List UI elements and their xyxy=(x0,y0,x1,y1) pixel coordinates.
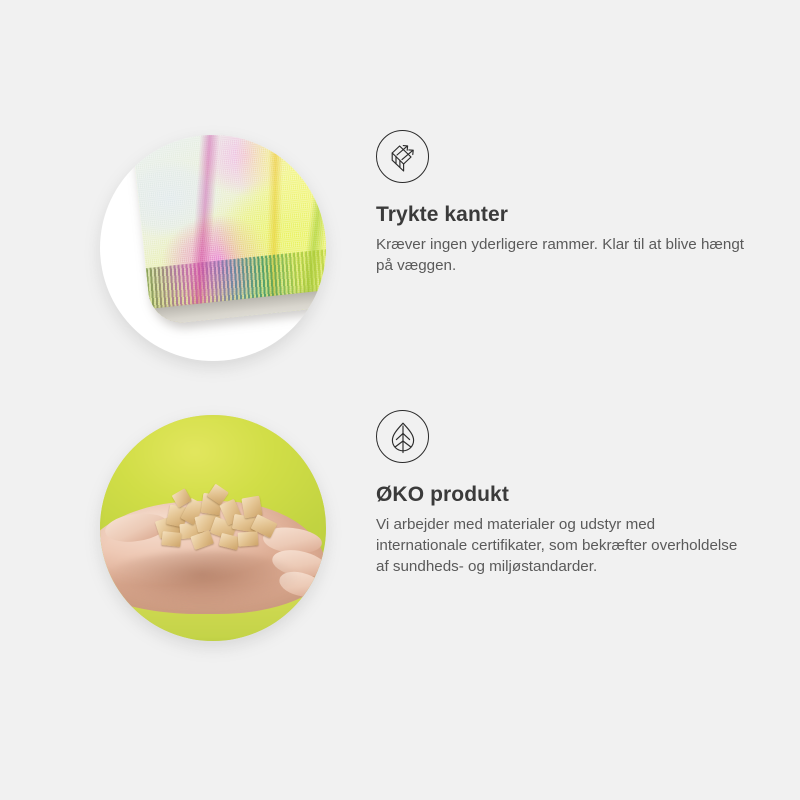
wood-chips-pile xyxy=(154,487,281,555)
feature-printed-edges: Trykte kanter Kræver ingen yderligere ra… xyxy=(0,130,800,380)
feature-eco-product: ØKO produkt Vi arbejder med materialer o… xyxy=(0,410,800,660)
product-features-page: Trykte kanter Kræver ingen yderligere ra… xyxy=(0,0,800,800)
canvas-corner-photo xyxy=(100,135,326,361)
feature-description: Vi arbejder med materialer og udstyr med… xyxy=(376,514,748,577)
palm-shadow xyxy=(105,551,299,610)
feature-printed-edges-content: Trykte kanter Kræver ingen yderligere ra… xyxy=(376,130,766,276)
canvas-corner-photo-wrapper xyxy=(100,135,326,361)
canvas-object xyxy=(131,135,326,327)
wood-chips-hands-photo-wrapper xyxy=(100,415,326,641)
feature-title: ØKO produkt xyxy=(376,483,766,507)
feature-description: Kræver ingen yderligere rammer. Klar til… xyxy=(376,234,748,276)
leaf-icon xyxy=(376,410,429,463)
wood-chips-hands-photo xyxy=(100,415,326,641)
feature-title: Trykte kanter xyxy=(376,203,766,227)
feature-eco-product-content: ØKO produkt Vi arbejder med materialer o… xyxy=(376,410,766,577)
printed-edges-icon xyxy=(376,130,429,183)
